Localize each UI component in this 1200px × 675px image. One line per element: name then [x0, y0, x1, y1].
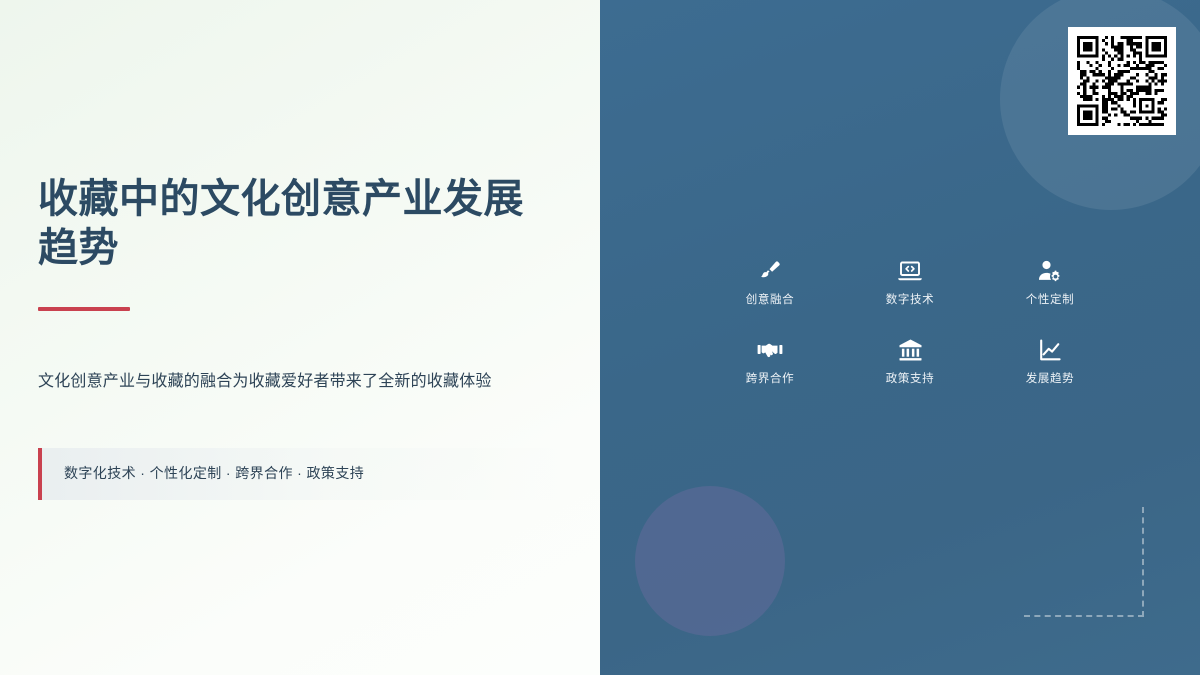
feature-item-development-trend[interactable]: 发展趋势: [980, 337, 1120, 386]
left-content-panel: 收藏中的文化创意产业发展趋势 文化创意产业与收藏的融合为收藏爱好者带来了全新的收…: [0, 0, 600, 675]
feature-item-digital-technology[interactable]: 数字技术: [840, 258, 980, 307]
tagline-box: 数字化技术 · 个性化定制 · 跨界合作 · 政策支持: [38, 448, 568, 500]
feature-item-creative-fusion[interactable]: 创意融合: [700, 258, 840, 307]
feature-item-policy-support[interactable]: 政策支持: [840, 337, 980, 386]
feature-item-cross-border-cooperation[interactable]: 跨界合作: [700, 337, 840, 386]
page-title: 收藏中的文化创意产业发展趋势: [38, 175, 562, 273]
user-gear-icon: [1037, 258, 1063, 284]
title-accent-bar: [38, 307, 130, 311]
feature-label: 发展趋势: [1026, 374, 1074, 386]
feature-item-personalized-customization[interactable]: 个性定制: [980, 258, 1120, 307]
decorative-circle-bottom: [635, 486, 785, 636]
decorative-corner-bracket: [1024, 507, 1144, 617]
qr-code-image: [1077, 36, 1167, 126]
right-visual-panel: 创意融合 数字技术: [600, 0, 1200, 675]
laptop-code-icon: [897, 258, 923, 284]
feature-label: 政策支持: [886, 374, 934, 386]
slide-root: 收藏中的文化创意产业发展趋势 文化创意产业与收藏的融合为收藏爱好者带来了全新的收…: [0, 0, 1200, 675]
feature-label: 数字技术: [886, 295, 934, 307]
paintbrush-icon: [757, 258, 783, 284]
bank-icon: [897, 337, 923, 363]
subtitle-text: 文化创意产业与收藏的融合为收藏爱好者带来了全新的收藏体验: [38, 367, 562, 396]
feature-label: 创意融合: [746, 295, 794, 307]
feature-label: 个性定制: [1026, 295, 1074, 307]
feature-icon-grid: 创意融合 数字技术: [700, 258, 1120, 385]
feature-label: 跨界合作: [746, 374, 794, 386]
tagline-text: 数字化技术 · 个性化定制 · 跨界合作 · 政策支持: [64, 464, 568, 484]
handshake-icon: [757, 337, 783, 363]
qr-code[interactable]: [1068, 27, 1176, 135]
chart-line-icon: [1037, 337, 1063, 363]
